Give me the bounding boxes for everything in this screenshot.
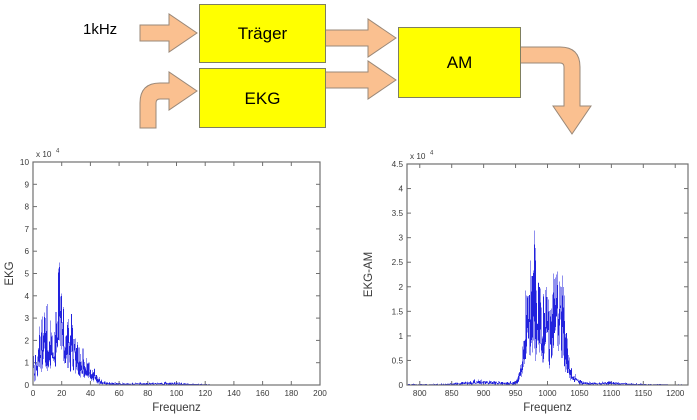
screenshot-root: 1kHz Träger EKG AM 020406080100120140160… [0,0,697,420]
svg-text:180: 180 [284,389,298,398]
svg-text:140: 140 [227,389,241,398]
svg-text:5: 5 [24,270,29,279]
svg-text:4: 4 [24,292,29,301]
svg-text:120: 120 [198,389,212,398]
y-axis-label: EKG [4,261,16,285]
svg-text:4: 4 [56,149,60,155]
arrow-input-to-traeger [140,14,197,52]
x-axis-label: Frequenz [152,402,201,414]
chart-ekg-spectrum: 020406080100120140160180200012345678910x… [0,140,350,420]
arrow-ekg-to-am [325,61,396,99]
svg-text:0: 0 [398,381,403,390]
svg-text:4: 4 [430,151,434,157]
svg-text:10: 10 [20,158,30,167]
svg-text:0: 0 [31,389,36,398]
svg-text:20: 20 [57,389,67,398]
svg-text:3.5: 3.5 [392,209,404,218]
svg-text:9: 9 [24,180,29,189]
x-axis-label: Frequenz [523,402,572,414]
svg-text:7: 7 [24,225,29,234]
svg-text:1200: 1200 [666,389,685,398]
arrow-traeger-to-am [325,19,396,57]
svg-text:800: 800 [413,389,427,398]
svg-text:2: 2 [24,336,29,345]
svg-text:3: 3 [398,234,403,243]
svg-text:1000: 1000 [538,389,557,398]
ekg-am-spectrum-plot: 8008509009501000105011001150120000.511.5… [350,140,697,420]
svg-text:1150: 1150 [634,389,652,398]
svg-text:4: 4 [398,185,403,194]
svg-text:x 10: x 10 [410,152,426,161]
svg-text:1: 1 [24,359,29,368]
svg-text:3: 3 [24,314,29,323]
svg-text:8: 8 [24,203,29,212]
svg-text:1050: 1050 [570,389,589,398]
svg-text:160: 160 [256,389,270,398]
svg-text:60: 60 [115,389,125,398]
svg-text:100: 100 [170,389,184,398]
svg-text:0: 0 [24,381,29,390]
arrow-curved-to-ekg [140,72,197,128]
svg-text:1: 1 [398,332,403,341]
svg-text:0.5: 0.5 [392,356,404,365]
svg-text:6: 6 [24,247,29,256]
svg-text:2: 2 [398,283,403,292]
arrow-am-output [520,47,591,134]
svg-text:4.5: 4.5 [392,160,404,169]
input-frequency-label: 1kHz [83,21,117,38]
block-am[interactable]: AM [398,27,521,98]
y-axis-label: EKG-AM [363,252,375,297]
ekg-spectrum-plot: 020406080100120140160180200012345678910x… [0,140,350,420]
svg-text:1.5: 1.5 [392,307,404,316]
block-diagram: 1kHz Träger EKG AM [0,0,697,140]
svg-text:1100: 1100 [603,389,621,398]
svg-text:x 10: x 10 [36,150,52,159]
svg-text:950: 950 [509,389,523,398]
block-ekg[interactable]: EKG [199,68,326,128]
svg-text:900: 900 [477,389,491,398]
svg-text:40: 40 [86,389,96,398]
svg-text:80: 80 [143,389,153,398]
svg-text:850: 850 [445,389,459,398]
svg-text:2.5: 2.5 [392,258,404,267]
block-traeger[interactable]: Träger [199,4,326,63]
svg-text:200: 200 [313,389,327,398]
chart-ekg-am-spectrum: 8008509009501000105011001150120000.511.5… [350,140,697,420]
